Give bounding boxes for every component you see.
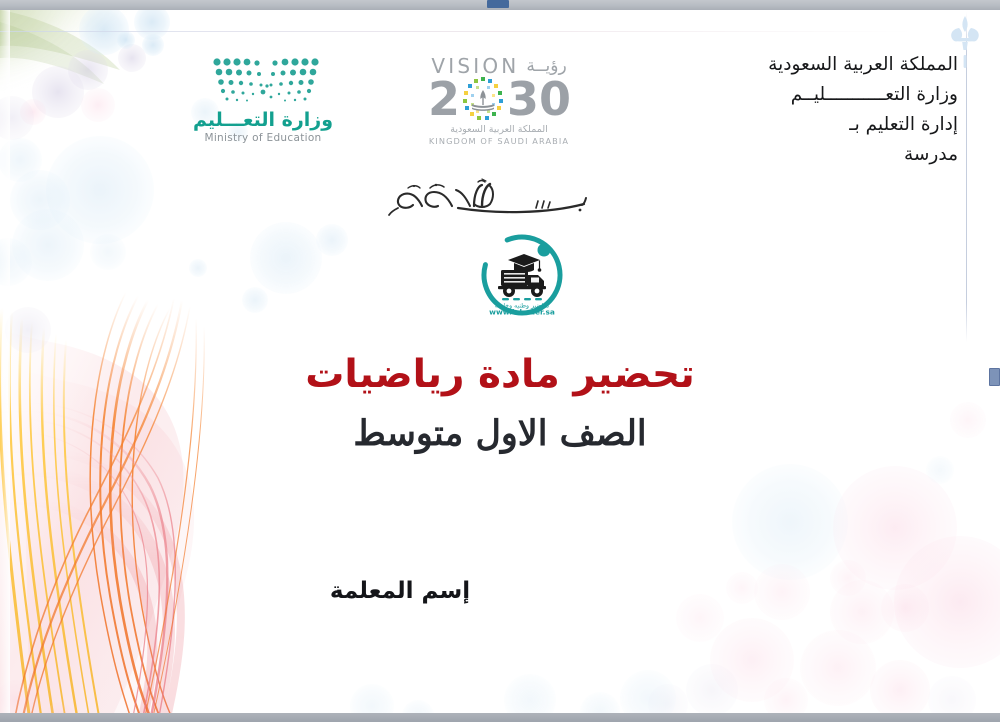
header-line-ministry-text: وزارة التعـــــــــــليــم [791, 80, 958, 110]
vision-digit-4: 0 [539, 76, 570, 122]
header-line-ministry: وزارة التعـــــــــــليــم [666, 80, 958, 110]
saudi-emblem-icon [460, 76, 506, 122]
header-line-department[interactable]: إدارة التعليم بـ [666, 110, 958, 140]
document-page: المملكة العربية السعودية وزارة التعـــــ… [0, 0, 1000, 722]
header-line-school[interactable]: مدرسة [666, 140, 958, 170]
vertical-scroll-thumb[interactable] [989, 368, 1000, 386]
lahader-circular-logo: تحاضير وطنيه وخاصة www.lahader.sa [468, 232, 576, 318]
moe-name-english: Ministry of Education [163, 132, 363, 144]
page-subtitle-grade: الصف الاول متوسط [0, 413, 1000, 454]
moe-name-arabic: وزارة التعـــليم [163, 109, 363, 131]
vision-2030-logo: VISION رؤيــة 2 [410, 55, 588, 146]
header-line-school-text: مدرسة [904, 140, 958, 170]
lahader-website: www.lahader.sa [489, 308, 555, 317]
header-line-department-fill[interactable] [666, 129, 843, 130]
basmala-calligraphy [386, 176, 596, 228]
institution-header: المملكة العربية السعودية وزارة التعـــــ… [666, 50, 958, 170]
page-title: تحضير مادة رياضيات [0, 352, 1000, 397]
header-line-country-text: المملكة العربية السعودية [768, 50, 958, 80]
vision-digit-3: 3 [507, 76, 538, 122]
horizontal-scroll-thumb[interactable] [487, 0, 509, 8]
teacher-name-label: إسم المعلمة [0, 578, 800, 604]
header-line-department-text: إدارة التعليم بـ [849, 110, 958, 140]
teacher-name-input[interactable] [198, 642, 426, 644]
header-line-school-fill[interactable] [666, 159, 898, 160]
ministry-of-education-logo: وزارة التعـــليم Ministry of Education [163, 56, 363, 144]
vision-digit-1: 2 [428, 76, 459, 122]
header-line-country: المملكة العربية السعودية [666, 50, 958, 80]
viewer-bottom-bar [0, 713, 1000, 722]
header-hairline [0, 31, 915, 32]
vision-digits: 2 [410, 76, 588, 122]
moe-dot-pattern-icon [163, 56, 363, 104]
vision-kingdom-english: KINGDOM OF SAUDI ARABIA [410, 136, 588, 146]
